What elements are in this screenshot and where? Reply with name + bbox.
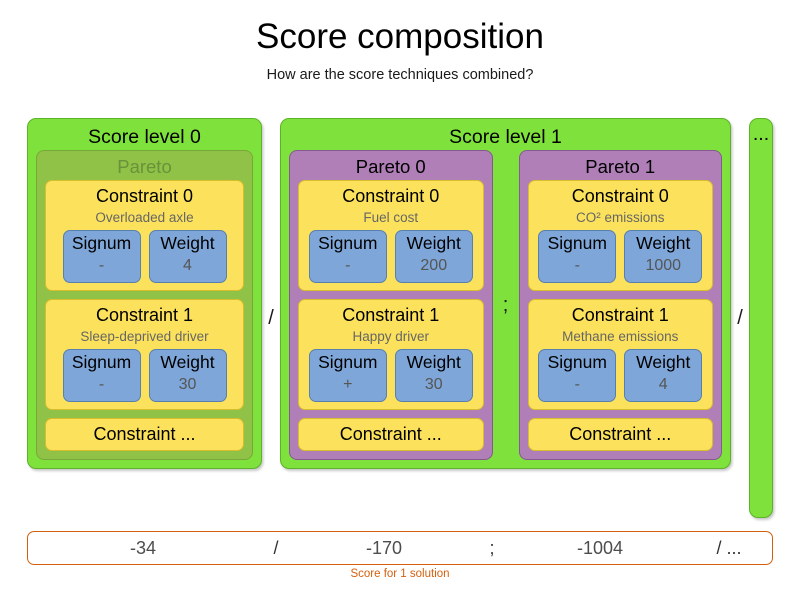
constraint-description: Happy driver [305, 327, 477, 346]
pareto-group-level0[interactable]: Pareto Constraint 0 Overloaded axle Sign… [36, 150, 253, 460]
constraint-description: Overloaded axle [52, 208, 237, 227]
constraint-description: Sleep-deprived driver [52, 327, 237, 346]
constraint-title: Constraint 1 [52, 303, 237, 327]
weight-value: 4 [627, 374, 699, 396]
signum-chip[interactable]: Signum - [63, 349, 141, 402]
score-level-more-panel[interactable]: ... [749, 118, 773, 518]
constraint-title: Constraint 0 [52, 184, 237, 208]
constraint-card[interactable]: Constraint 1 Sleep-deprived driver Signu… [45, 299, 244, 410]
weight-chip[interactable]: Weight 1000 [624, 230, 702, 283]
weight-value: 1000 [627, 255, 699, 277]
constraint-chips: Signum + Weight 30 [305, 349, 477, 402]
constraint-card[interactable]: Constraint 1 Methane emissions Signum - … [528, 299, 714, 410]
constraint-title: Constraint 0 [305, 184, 477, 208]
score-separator-2: / ... [690, 538, 768, 559]
pareto-group-level0-title: Pareto [45, 151, 244, 180]
constraint-more-card[interactable]: Constraint ... [298, 418, 484, 451]
constraint-title: Constraint 1 [305, 303, 477, 327]
constraint-more-card[interactable]: Constraint ... [528, 418, 714, 451]
constraint-description: Fuel cost [305, 208, 477, 227]
constraint-card[interactable]: Constraint 0 Overloaded axle Signum - We… [45, 180, 244, 291]
page-subtitle: How are the score techniques combined? [0, 66, 800, 84]
signum-label: Signum [312, 351, 384, 374]
weight-label: Weight [627, 232, 699, 255]
weight-label: Weight [398, 351, 470, 374]
signum-value: - [66, 374, 138, 396]
constraint-description: CO² emissions [535, 208, 707, 227]
weight-value: 4 [152, 255, 224, 277]
signum-chip[interactable]: Signum - [538, 230, 616, 283]
score-value-level-0: -34 [28, 538, 258, 559]
weight-value: 30 [398, 374, 470, 396]
separator-level1-next: / [731, 308, 749, 328]
signum-chip[interactable]: Signum + [309, 349, 387, 402]
signum-value: - [541, 374, 613, 396]
constraint-card[interactable]: Constraint 1 Happy driver Signum + Weigh… [298, 299, 484, 410]
score-value-pareto-1: -1004 [510, 538, 690, 559]
signum-chip[interactable]: Signum - [309, 230, 387, 283]
separator-level0-level1: / [262, 308, 280, 328]
signum-label: Signum [312, 232, 384, 255]
weight-chip[interactable]: Weight 4 [624, 349, 702, 402]
pareto-group-1[interactable]: Pareto 1 Constraint 0 CO² emissions Sign… [519, 150, 723, 460]
constraint-chips: Signum - Weight 4 [52, 230, 237, 283]
weight-chip[interactable]: Weight 200 [395, 230, 473, 283]
signum-value: - [541, 255, 613, 277]
signum-label: Signum [66, 232, 138, 255]
signum-chip[interactable]: Signum - [63, 230, 141, 283]
constraint-chips: Signum - Weight 4 [535, 349, 707, 402]
weight-label: Weight [152, 232, 224, 255]
constraint-title: Constraint 1 [535, 303, 707, 327]
page-title: Score composition [0, 16, 800, 58]
signum-value: + [312, 374, 384, 396]
score-output-bar[interactable]: -34 / -170 ; -1004 / ... [27, 531, 773, 565]
constraint-title: Constraint 0 [535, 184, 707, 208]
constraint-card[interactable]: Constraint 0 CO² emissions Signum - Weig… [528, 180, 714, 291]
score-caption: Score for 1 solution [27, 567, 773, 581]
pareto-group-0-title: Pareto 0 [298, 151, 484, 180]
score-separator-1: ; [474, 538, 510, 559]
signum-label: Signum [541, 232, 613, 255]
weight-chip[interactable]: Weight 4 [149, 230, 227, 283]
score-level-1-title: Score level 1 [281, 119, 730, 150]
signum-chip[interactable]: Signum - [538, 349, 616, 402]
weight-label: Weight [398, 232, 470, 255]
score-level-1-panel[interactable]: Score level 1 Pareto 0 Constraint 0 Fuel… [280, 118, 731, 469]
constraint-card[interactable]: Constraint 0 Fuel cost Signum - Weight 2… [298, 180, 484, 291]
constraint-chips: Signum - Weight 200 [305, 230, 477, 283]
weight-label: Weight [152, 351, 224, 374]
score-value-pareto-0: -170 [294, 538, 474, 559]
signum-label: Signum [541, 351, 613, 374]
pareto-group-1-title: Pareto 1 [528, 151, 714, 180]
score-composition-diagram: Score level 0 Pareto Constraint 0 Overlo… [0, 112, 800, 522]
weight-value: 30 [152, 374, 224, 396]
pareto-group-0[interactable]: Pareto 0 Constraint 0 Fuel cost Signum -… [289, 150, 493, 460]
page-header: Score composition How are the score tech… [0, 0, 800, 84]
weight-chip[interactable]: Weight 30 [395, 349, 473, 402]
separator-pareto0-pareto1: ; [501, 295, 511, 315]
constraint-more-card[interactable]: Constraint ... [45, 418, 244, 451]
constraint-chips: Signum - Weight 1000 [535, 230, 707, 283]
constraint-description: Methane emissions [535, 327, 707, 346]
signum-label: Signum [66, 351, 138, 374]
signum-value: - [66, 255, 138, 277]
score-separator-0: / [258, 538, 294, 559]
score-level-0-title: Score level 0 [28, 119, 261, 150]
weight-label: Weight [627, 351, 699, 374]
signum-value: - [312, 255, 384, 277]
weight-value: 200 [398, 255, 470, 277]
score-level-0-panel[interactable]: Score level 0 Pareto Constraint 0 Overlo… [27, 118, 262, 469]
constraint-chips: Signum - Weight 30 [52, 349, 237, 402]
weight-chip[interactable]: Weight 30 [149, 349, 227, 402]
